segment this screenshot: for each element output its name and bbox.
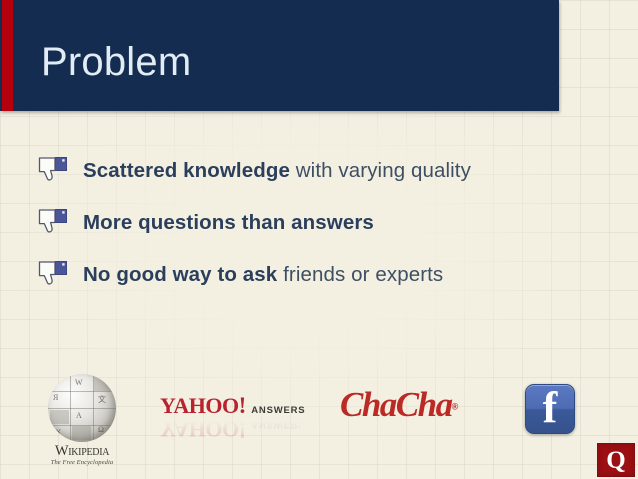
list-item: More questions than answers (36, 197, 596, 249)
list-item-label: Scattered knowledge with varying quality (83, 159, 471, 183)
yahoo-wordmark-reflection: YAHOO (160, 418, 239, 440)
header-accent-stripe (2, 0, 13, 111)
thumbs-down-icon (36, 207, 70, 239)
thumbs-down-icon (36, 259, 70, 291)
slide: Problem Scattered knowledge with varying… (0, 0, 638, 479)
chacha-wordmark: ChaCha (340, 385, 452, 424)
logo-row: Я W 文 A א Ω Wikipedia The Free Encyclope… (0, 372, 638, 462)
list-item-strong: Scattered knowledge (83, 159, 290, 182)
yahoo-answers-logo: YAHOO ! ANSWERS YAHOO ! ANSWERS (160, 394, 300, 441)
chacha-registered-mark: ® (452, 402, 457, 412)
list-item: No good way to ask friends or experts (36, 249, 596, 301)
wikipedia-globe-icon: Я W 文 A א Ω (48, 374, 116, 442)
quora-badge-letter: Q (606, 448, 625, 473)
yahoo-exclamation: ! (239, 394, 247, 417)
list-item-strong: More questions than answers (83, 211, 374, 234)
list-item-label: No good way to ask friends or experts (83, 263, 443, 287)
yahoo-product-label-reflection: ANSWERS (251, 420, 305, 430)
list-item-strong: No good way to ask (83, 263, 277, 286)
wikipedia-tagline: The Free Encyclopedia (30, 459, 134, 466)
yahoo-exclamation-reflection: ! (239, 418, 247, 441)
page-title: Problem (41, 42, 191, 82)
yahoo-logo-main: YAHOO ! ANSWERS (160, 394, 300, 417)
wikipedia-logo: Я W 文 A א Ω Wikipedia The Free Encyclope… (30, 374, 134, 466)
facebook-icon: f (525, 384, 575, 434)
list-item-rest: with varying quality (290, 159, 471, 182)
bullet-list: Scattered knowledge with varying quality… (36, 145, 596, 301)
list-item-rest: friends or experts (277, 263, 443, 286)
chacha-logo: ChaCha® (340, 387, 480, 422)
quora-badge: Q (597, 443, 635, 477)
yahoo-logo-reflection: YAHOO ! ANSWERS (160, 418, 300, 441)
thumbs-down-icon (36, 155, 70, 187)
yahoo-wordmark: YAHOO (160, 395, 239, 417)
facebook-f-letter: f (526, 384, 574, 432)
list-item: Scattered knowledge with varying quality (36, 145, 596, 197)
list-item-label: More questions than answers (83, 211, 374, 235)
wikipedia-wordmark: Wikipedia (30, 444, 134, 459)
yahoo-product-label: ANSWERS (251, 406, 305, 416)
facebook-logo: f (525, 384, 575, 434)
